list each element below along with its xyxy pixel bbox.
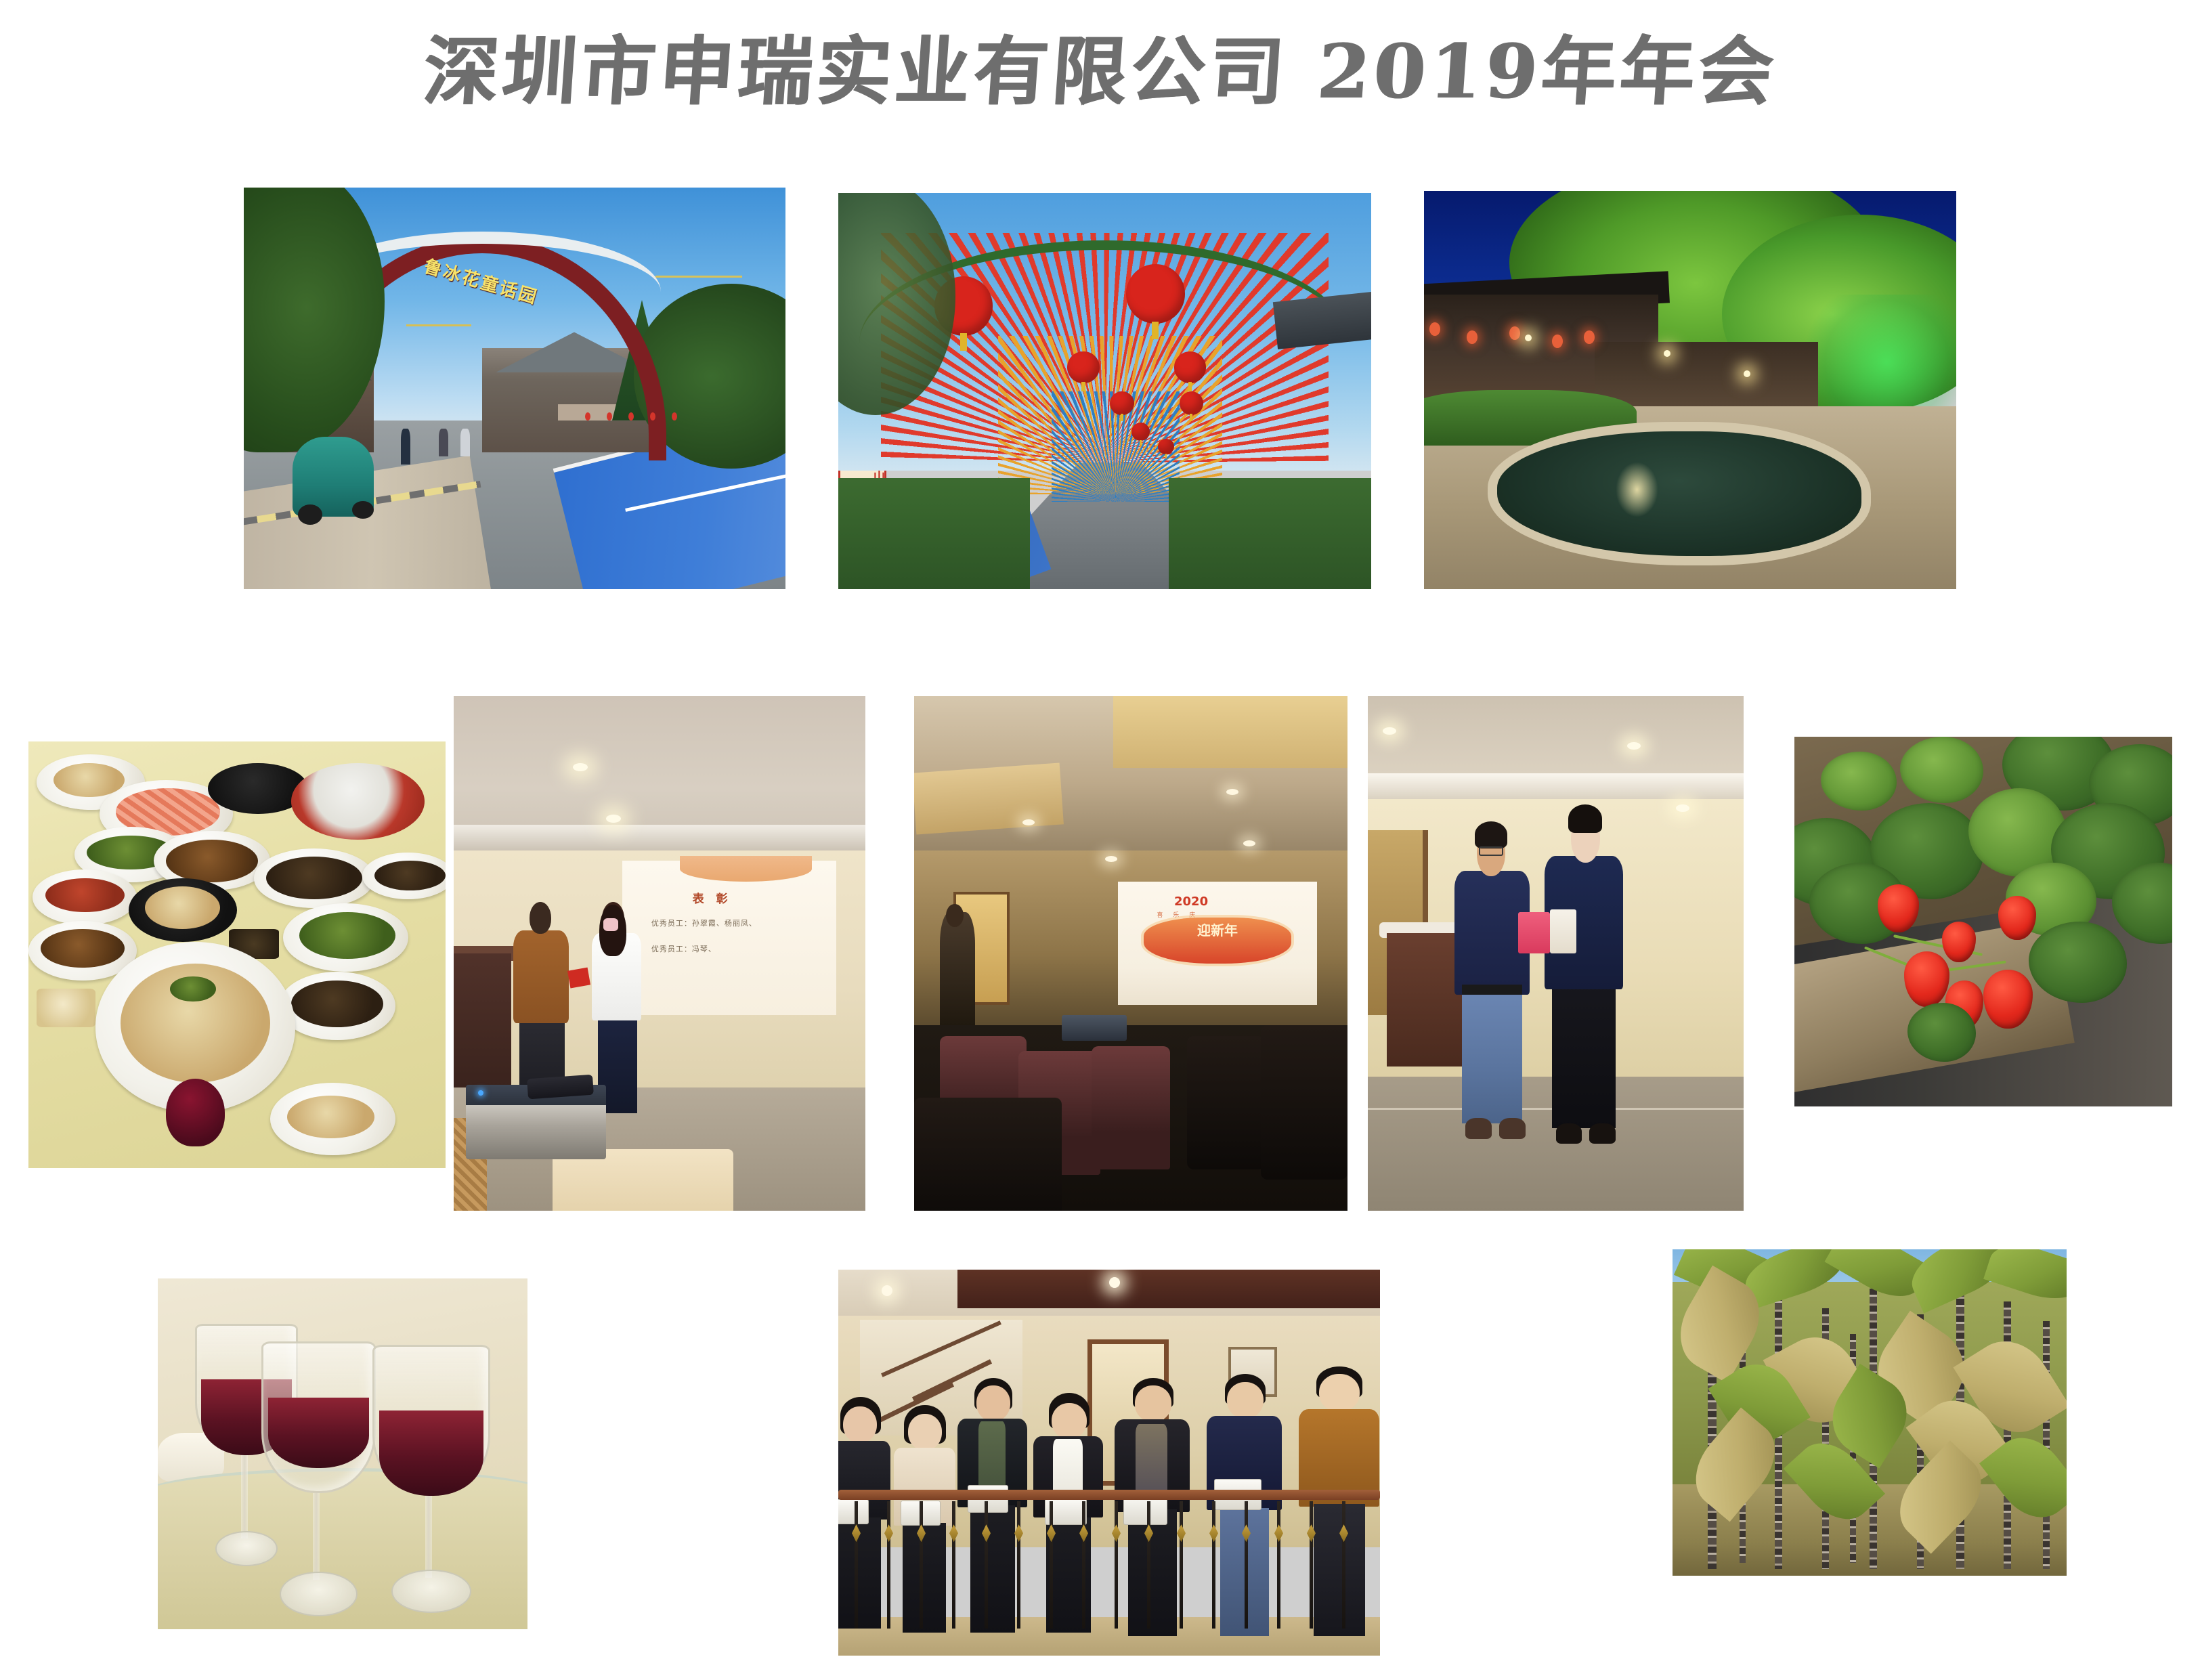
photo-wine-glasses[interactable] bbox=[158, 1278, 527, 1629]
photo-5-screen-line-1: 优秀员工：孙翠霞、杨丽凤、 bbox=[651, 918, 757, 928]
photo-3-lamp-light-2 bbox=[1525, 335, 1532, 341]
photo-4-food-bamboo bbox=[287, 1096, 374, 1138]
photo-1-lantern-3 bbox=[628, 412, 634, 421]
photo-1-lantern-5 bbox=[672, 412, 677, 421]
photo-1-tuktuk-wheel bbox=[298, 504, 322, 525]
photo-4-food-fungus bbox=[291, 981, 383, 1027]
photo-3-red-lantern-1 bbox=[1429, 322, 1440, 336]
photo-3-wooden-building-2 bbox=[1595, 342, 1818, 406]
photo-7-man-right-shoe-1 bbox=[1556, 1123, 1582, 1144]
photo-10-baluster-11 bbox=[1180, 1501, 1183, 1629]
photo-4-egg-dish bbox=[145, 886, 220, 929]
photo-10-baluster-8 bbox=[1082, 1501, 1085, 1629]
photo-7-man-left-shoe-2 bbox=[1499, 1118, 1526, 1138]
photo-10-person-7-head bbox=[1319, 1374, 1360, 1412]
photo-2-lantern-small-4 bbox=[1158, 439, 1174, 454]
photo-5-screen-decoration bbox=[680, 856, 812, 882]
photo-1-pedestrian-3 bbox=[460, 429, 470, 457]
photo-7-downlight-1 bbox=[1383, 727, 1396, 735]
photo-7-certificate bbox=[1550, 909, 1576, 953]
photo-10-person-1-head bbox=[843, 1406, 877, 1444]
photo-3-lamp-post-light bbox=[1664, 350, 1670, 357]
photo-5-manager-head bbox=[530, 902, 551, 934]
photo-10-person-2 bbox=[892, 1405, 957, 1633]
photo-gift-presentation[interactable] bbox=[1368, 696, 1744, 1211]
photo-5-projector-body bbox=[466, 1098, 606, 1159]
photo-10-baluster-14 bbox=[1277, 1501, 1280, 1629]
photo-3-pond bbox=[1488, 422, 1871, 565]
photo-10-baluster-3 bbox=[920, 1501, 923, 1629]
photo-6-ceiling-cove-left bbox=[914, 763, 1064, 835]
photo-10-person-3-head bbox=[976, 1385, 1010, 1421]
photo-9-wine-glass-3 bbox=[372, 1345, 491, 1618]
photo-4-food-red bbox=[45, 878, 125, 912]
photo-7-man-left-hair bbox=[1475, 821, 1508, 848]
photo-4-food-roast bbox=[41, 929, 124, 968]
photo-7-man-left-shoe-1 bbox=[1465, 1118, 1492, 1138]
photo-group-railing[interactable] bbox=[838, 1270, 1380, 1656]
photo-7-downlight-3 bbox=[1676, 804, 1689, 812]
photo-10-person-2-head bbox=[908, 1414, 942, 1450]
photo-4-herb-garnish bbox=[170, 976, 216, 1002]
photo-1-lantern-4 bbox=[650, 412, 655, 421]
photo-park-entrance-arch[interactable]: 鲁冰花童话园 bbox=[244, 188, 785, 589]
photo-8-strawberry-4 bbox=[1904, 951, 1949, 1007]
photo-4-food-braised bbox=[166, 840, 258, 882]
photo-6-projector bbox=[1062, 1015, 1127, 1041]
photo-2-hedge-right bbox=[1169, 478, 1371, 589]
photo-5-projection-screen bbox=[622, 861, 836, 1015]
photo-6-downlight-2 bbox=[1226, 789, 1238, 795]
photo-10-baluster-12 bbox=[1212, 1501, 1215, 1629]
photo-10-person-5-legs bbox=[1128, 1509, 1177, 1636]
photo-10-baluster-13 bbox=[1245, 1501, 1248, 1629]
photo-6-screen-year: 2020 bbox=[1174, 895, 1208, 909]
photo-5-downlight-1 bbox=[573, 763, 588, 771]
photo-6-presenter-body bbox=[940, 912, 974, 1025]
photo-1-pedestrian-1 bbox=[401, 429, 410, 465]
photo-6-ceiling-cove-right bbox=[1113, 696, 1347, 768]
photo-4-sauce-dish-2 bbox=[37, 989, 95, 1027]
photo-6-downlight-3 bbox=[1243, 840, 1255, 846]
photo-1-crane bbox=[655, 276, 742, 278]
photo-3-red-lantern-4 bbox=[1552, 335, 1563, 348]
photo-4-food-dark bbox=[266, 857, 362, 899]
photo-10-handrail bbox=[838, 1490, 1380, 1500]
photo-10-person-1-gift-box bbox=[838, 1499, 869, 1525]
photo-6-seat-4 bbox=[1187, 1036, 1265, 1170]
photo-10-person-5-head bbox=[1135, 1385, 1171, 1421]
photo-5-downlight-2 bbox=[606, 815, 621, 823]
photo-10-ceiling-light-1 bbox=[882, 1285, 892, 1296]
photo-presentation-room[interactable]: 2020 喜 乐 庆 迎新年 bbox=[914, 696, 1347, 1211]
photo-7-man-right-hair bbox=[1568, 804, 1602, 834]
photo-10-person-4 bbox=[1033, 1393, 1104, 1632]
photo-sugarcane-field[interactable] bbox=[1673, 1249, 2067, 1576]
photo-10-person-6-head bbox=[1227, 1382, 1264, 1419]
photo-1-pedestrian-2 bbox=[439, 429, 448, 457]
photo-1-tuktuk-wheel-2 bbox=[352, 501, 374, 519]
photo-7-wooden-cabinet bbox=[1387, 933, 1462, 1067]
photo-10-person-1 bbox=[838, 1397, 892, 1629]
photo-3-lamp-light-3 bbox=[1744, 370, 1750, 377]
photo-2-lantern-mid-left bbox=[1067, 351, 1099, 383]
photo-2-lantern-small-2 bbox=[1180, 391, 1203, 415]
photo-6-seat-5 bbox=[1261, 1025, 1347, 1180]
photo-9-glass-1-stem bbox=[241, 1455, 248, 1538]
photo-5-side-cabinet bbox=[454, 953, 511, 1087]
photo-7-man-left-glasses bbox=[1479, 846, 1503, 856]
photo-10-baluster-7 bbox=[1050, 1501, 1053, 1629]
photo-6-downlight-4 bbox=[1105, 856, 1117, 862]
photo-9-glass-3-foot bbox=[391, 1570, 472, 1614]
photo-6-screen-title: 迎新年 bbox=[1144, 918, 1291, 964]
photo-3-red-lantern-3 bbox=[1509, 326, 1520, 340]
photo-10-baluster-15 bbox=[1310, 1501, 1313, 1629]
photo-3-red-lantern-2 bbox=[1467, 330, 1478, 344]
photo-strawberry-field[interactable] bbox=[1794, 737, 2172, 1106]
photo-10-baluster-6 bbox=[1017, 1501, 1020, 1629]
photo-10-person-4-head bbox=[1052, 1403, 1087, 1439]
photo-4-wine-glass bbox=[166, 1079, 224, 1147]
photo-7-gift-box bbox=[1518, 912, 1550, 953]
photo-6-seat-3 bbox=[1092, 1046, 1169, 1169]
photo-10-baluster-5 bbox=[985, 1501, 988, 1629]
photo-banquet-table[interactable] bbox=[28, 741, 446, 1168]
photo-2-lantern-small-1 bbox=[1110, 391, 1134, 415]
photo-1-lantern-2 bbox=[607, 412, 612, 421]
photo-10-baluster-10 bbox=[1147, 1501, 1150, 1629]
photo-9-glass-2-stem bbox=[313, 1493, 320, 1580]
photo-10-baluster-4 bbox=[952, 1501, 955, 1629]
photo-7-man-left-jeans bbox=[1462, 989, 1522, 1123]
photo-3-red-lantern-5 bbox=[1584, 330, 1595, 344]
photo-10-person-3-legs bbox=[970, 1505, 1016, 1633]
photo-5-screen-line-2: 优秀员工：冯琴、 bbox=[651, 943, 716, 954]
photo-10-wood-beam bbox=[957, 1270, 1380, 1308]
photo-9-glass-3-wine bbox=[379, 1410, 483, 1495]
photo-2-hedge-left bbox=[838, 478, 1030, 589]
photo-1-lantern bbox=[585, 412, 590, 421]
photo-2-lantern-mid-right bbox=[1174, 351, 1206, 383]
photo-9-glass-2-foot bbox=[280, 1572, 358, 1616]
photo-5-red-envelope bbox=[567, 967, 590, 988]
photo-4-red-bowl-soup bbox=[291, 763, 425, 840]
photo-7-man-right-shoe-2 bbox=[1589, 1123, 1616, 1144]
photo-7-man-right-trousers bbox=[1552, 985, 1616, 1129]
photo-9-glass-2-wine bbox=[268, 1398, 369, 1468]
photo-4-food-beans bbox=[299, 912, 395, 959]
photo-4-food-1 bbox=[53, 763, 125, 797]
photo-2-lantern-large-right bbox=[1126, 264, 1185, 324]
photo-10-baluster-9 bbox=[1115, 1501, 1118, 1629]
collage-page: 深圳市申瑞实业有限公司 2019年年会 鲁冰花童话园 bbox=[0, 0, 2200, 1680]
photo-9-glass-3-stem bbox=[425, 1496, 432, 1578]
photo-10-person-2-legs bbox=[903, 1523, 945, 1632]
page-title: 深圳市申瑞实业有限公司 2019年年会 bbox=[0, 30, 2200, 113]
photo-5-manager-torso bbox=[513, 930, 569, 1023]
photo-3-water-reflection bbox=[1616, 462, 1658, 517]
photo-5-ceiling-cornice bbox=[454, 825, 865, 850]
photo-10-baluster-2 bbox=[887, 1501, 890, 1629]
photo-7-man-left-belt bbox=[1462, 985, 1522, 995]
photo-6-presenter-head bbox=[946, 904, 964, 927]
photo-lantern-street[interactable]: 开启全新富氧时光 270° 环幕瞰山拥景 bbox=[838, 193, 1371, 589]
photo-10-person-7-legs bbox=[1314, 1504, 1366, 1637]
photo-10-baluster-16 bbox=[1342, 1501, 1345, 1629]
photo-5-screen-title: 表 彰 bbox=[693, 889, 732, 906]
photo-night-pond[interactable] bbox=[1424, 191, 1956, 589]
photo-9-wine-glass-2 bbox=[261, 1341, 376, 1622]
photo-award-ceremony[interactable]: 表 彰 优秀员工：孙翠霞、杨丽凤、 优秀员工：冯琴、 bbox=[454, 696, 865, 1211]
photo-5-employee-face-mask bbox=[603, 918, 618, 930]
photo-6-seat-6 bbox=[914, 1098, 1062, 1211]
photo-10-baluster-1 bbox=[855, 1501, 858, 1629]
